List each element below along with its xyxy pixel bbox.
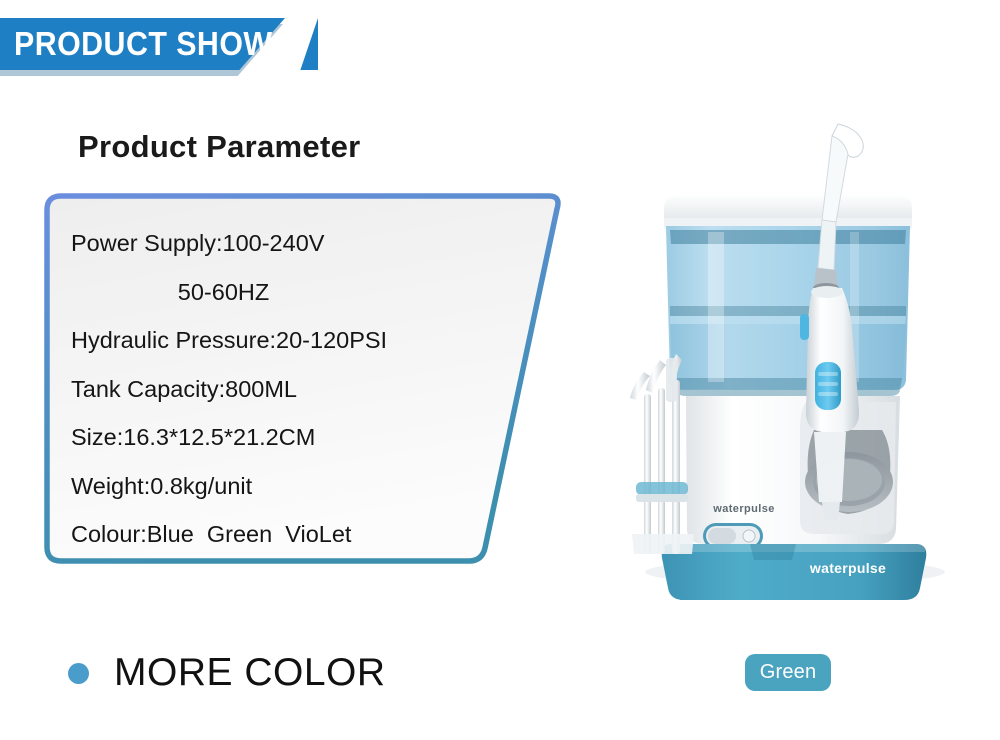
param-line-weight: Weight:0.8kg/unit — [71, 475, 511, 499]
product-shows-banner: PRODUCT SHOWS — [0, 18, 330, 70]
param-line-hydraulic-pressure: Hydraulic Pressure:20-120PSI — [71, 329, 511, 353]
more-color-row: MORE COLOR — [68, 651, 386, 695]
param-line-tank-capacity: Tank Capacity:800ML — [71, 378, 511, 402]
param-line-size: Size:16.3*12.5*21.2CM — [71, 426, 511, 450]
handle-power-button — [815, 362, 841, 410]
more-color-label: MORE COLOR — [114, 651, 386, 695]
param-line-power-supply: Power Supply:100-240V — [71, 232, 511, 256]
product-body-brand: waterpulse — [712, 503, 774, 515]
param-line-frequency: 50-60HZ — [71, 281, 376, 305]
product-parameter-box: Power Supply:100-240V 50-60HZ Hydraulic … — [33, 188, 578, 578]
color-badge-green[interactable]: Green — [745, 654, 831, 691]
handle-side-slider — [800, 314, 809, 340]
param-line-colour: Colour:Blue Green VioLet — [71, 523, 511, 547]
banner-title: PRODUCT SHOWS — [14, 18, 293, 70]
product-base-brand: waterpulse — [809, 560, 886, 576]
bullet-dot-icon — [68, 663, 89, 684]
section-heading: Product Parameter — [78, 129, 360, 165]
parameter-list: Power Supply:100-240V 50-60HZ Hydraulic … — [71, 232, 511, 572]
product-image-water-flosser: waterpulse 2 4 6 8 10 — [600, 110, 980, 600]
